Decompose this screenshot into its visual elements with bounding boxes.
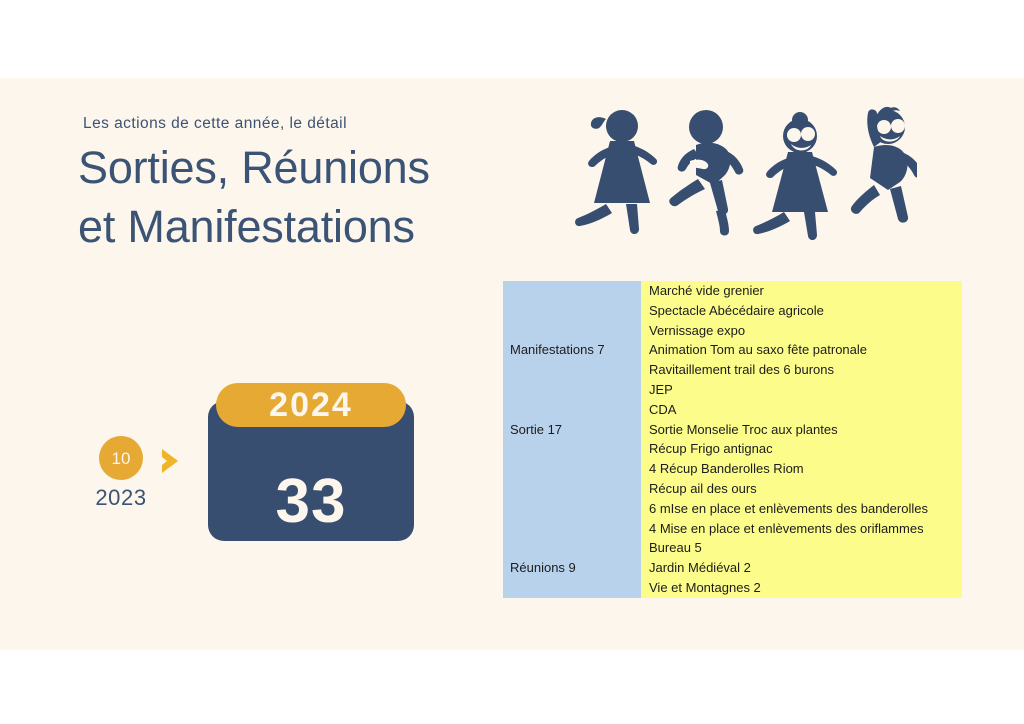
page-title-line-1: Sorties, Réunions <box>78 138 598 197</box>
title-block: Les actions de cette année, le détail So… <box>78 115 598 256</box>
figure-girl-ponytail <box>575 110 657 234</box>
table-row: Sortie Monselie Troc aux plantes <box>641 420 962 440</box>
table-category-label: Manifestations 7 <box>510 340 605 360</box>
table-category-label: Sortie 17 <box>510 420 562 440</box>
table-row: Ravitaillement trail des 6 burons <box>641 360 962 380</box>
table-row: JEP <box>641 380 962 400</box>
current-year-label: 2024 <box>269 388 353 422</box>
table-row: Spectacle Abécédaire agricole <box>641 301 962 321</box>
dancing-people-illustration <box>572 103 917 248</box>
slide-kicker: Les actions de cette année, le détail <box>83 115 598 134</box>
table-row: Animation Tom au saxo fête patronale <box>641 340 962 360</box>
table-items-column: Marché vide grenierSpectacle Abécédaire … <box>641 281 962 598</box>
previous-value: 10 <box>112 450 131 467</box>
table-row: Jardin Médiéval 2 <box>641 558 962 578</box>
previous-year-label: 2023 <box>88 485 154 511</box>
previous-year-group: 10 2023 <box>88 436 154 511</box>
table-row: 6 mIse en place et enlèvements des bande… <box>641 499 962 519</box>
year-comparison-widget: 10 2023 33 2024 <box>88 378 428 553</box>
table-row: Vernissage expo <box>641 321 962 341</box>
figure-girl-glasses <box>753 112 837 240</box>
table-row: Récup ail des ours <box>641 479 962 499</box>
slide-canvas: Les actions de cette année, le détail So… <box>0 78 1024 650</box>
table-row: Bureau 5 <box>641 538 962 558</box>
table-category-column: Manifestations 7Sortie 17Réunions 9 <box>503 281 641 598</box>
page-title-line-2: et Manifestations <box>78 197 598 256</box>
table-row: 4 Récup Banderolles Riom <box>641 459 962 479</box>
current-year-card: 33 2024 <box>208 383 414 541</box>
table-row: CDA <box>641 400 962 420</box>
chevron-right-icon <box>151 441 191 481</box>
figure-running-boy <box>669 110 743 236</box>
table-row: 4 Mise en place et enlèvements des orifl… <box>641 519 962 539</box>
page-title: Sorties, Réunions et Manifestations <box>78 138 598 257</box>
current-year-card-header: 2024 <box>216 383 406 427</box>
table-category-label: Réunions 9 <box>510 558 576 578</box>
activities-table: Manifestations 7Sortie 17Réunions 9 Marc… <box>503 281 962 598</box>
figure-jumping-boy <box>851 107 917 223</box>
table-row: Vie et Montagnes 2 <box>641 578 962 598</box>
table-row: Récup Frigo antignac <box>641 439 962 459</box>
table-row: Marché vide grenier <box>641 281 962 301</box>
previous-value-badge: 10 <box>99 436 143 480</box>
current-value: 33 <box>208 445 414 559</box>
